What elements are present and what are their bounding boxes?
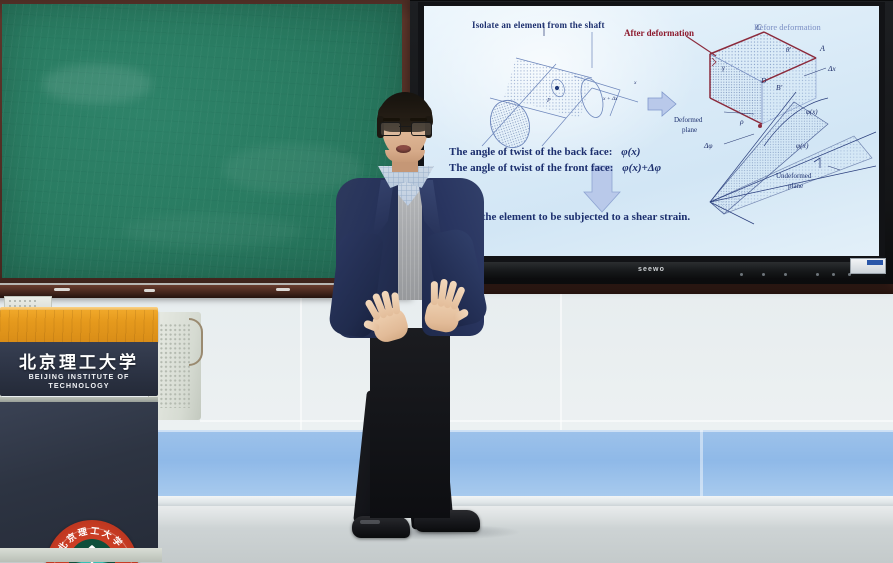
whiteboard-top-edge — [410, 0, 893, 1]
presenter-mouth — [396, 145, 411, 153]
label-rho: ρ — [739, 117, 744, 126]
podium-speaker-grille — [160, 324, 190, 408]
lectern-podium[interactable]: 北京理工大学 BEIJING INSTITUTE OF TECHNOLOGY — [0, 302, 200, 563]
label-phi-x: φ(x) — [796, 141, 809, 150]
svg-text:φ(x): φ(x) — [806, 108, 818, 116]
glasses-bridge — [399, 126, 411, 127]
wainscot-seam — [700, 430, 703, 498]
presenter-trousers — [370, 328, 450, 518]
podium-name-panel: 北京理工大学 BEIJING INSTITUTE OF TECHNOLOGY — [0, 342, 158, 396]
slide-text-line2-value: φ(x)+Δφ — [616, 162, 661, 174]
slide-label-undeformed-plane-2: plane — [788, 182, 803, 190]
wall-panel-seam — [300, 286, 302, 432]
label-a: A — [819, 44, 825, 53]
slide-label-deformed-plane-1: Deformed — [674, 116, 702, 124]
podium-university-name-en: BEIJING INSTITUTE OF TECHNOLOGY — [0, 372, 158, 390]
podium-wood-top — [0, 310, 158, 342]
podium-lower-panel: 北京理工大学 BEIJING INSTITUTE OF TECHNOLOGY — [0, 402, 158, 552]
podium-wood-grain — [0, 310, 158, 342]
presenter — [330, 92, 530, 544]
slide-label-undeformed-plane-1: Undeformed — [776, 172, 811, 180]
after-deformation-pointer — [686, 36, 716, 56]
label-delta-x: Δx — [827, 64, 836, 73]
wall-horizontal-seam — [200, 420, 893, 422]
whiteboard-button-row[interactable] — [740, 273, 860, 278]
transition-arrow — [648, 92, 676, 116]
label-b-prime: B' — [776, 83, 783, 92]
wall-panel-seam — [560, 286, 562, 432]
label-theta-prime: θ' — [786, 46, 791, 54]
svg-text:P: P — [546, 98, 551, 104]
label-delta-phi: Δφ — [703, 141, 713, 150]
glasses-right-lens — [411, 122, 432, 136]
podium-cable-loop — [189, 318, 203, 366]
label-d: D — [760, 76, 767, 85]
slide-text-line1-value: φ(x) — [615, 146, 640, 158]
presenter-glasses — [380, 122, 430, 134]
whiteboard-label-sticker — [850, 258, 886, 274]
presenter-hair-fringe — [378, 100, 432, 118]
presenter-left-shoe — [352, 516, 410, 538]
glasses-left-lens — [380, 122, 401, 136]
slide-label-deformed-plane-2: plane — [682, 126, 697, 134]
svg-text:x: x — [633, 80, 637, 86]
podium-base — [0, 548, 162, 562]
svg-text:x + Δx: x + Δx — [602, 96, 618, 102]
slide-label-before-deformation: Before deformation — [754, 22, 821, 32]
podium-university-name-cn: 北京理工大学 — [0, 348, 158, 373]
label-gamma: γ — [722, 64, 725, 72]
whiteboard-brand-logo: seewo — [638, 266, 665, 273]
lecture-hall-photo: P x + Δx x T — [0, 0, 893, 563]
slide-label-isolate: Isolate an element from the shaft — [472, 20, 605, 30]
slide-label-after-deformation: After deformation — [624, 28, 694, 38]
